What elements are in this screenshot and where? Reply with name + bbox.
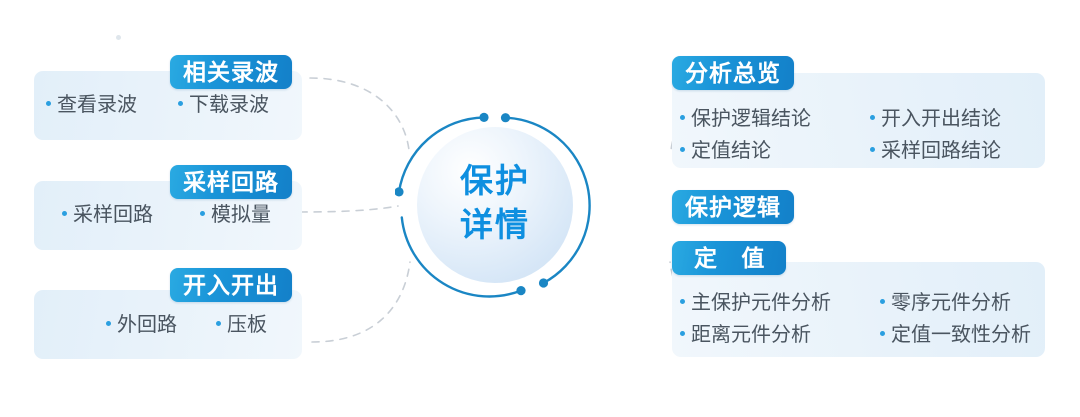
bullet-icon <box>680 115 685 120</box>
bullet-icon <box>46 101 51 106</box>
list-item[interactable]: 定值结论 <box>680 136 870 166</box>
list-item[interactable]: 采样回路 <box>62 200 200 230</box>
list-item-label: 主保护元件分析 <box>691 288 831 318</box>
list-item-label: 定值一致性分析 <box>891 320 1031 350</box>
list-item[interactable]: 压板 <box>216 310 296 340</box>
bullet-icon <box>178 101 183 106</box>
list-item[interactable]: 保护逻辑结论 <box>680 104 870 134</box>
badge-caiyanghuilu[interactable]: 采样回路 <box>170 165 292 199</box>
badge-fenxizonglan[interactable]: 分析总览 <box>672 56 794 90</box>
center-hub[interactable]: 保护 详情 <box>395 105 595 305</box>
bullet-icon <box>62 211 67 216</box>
list-item[interactable]: 查看录波 <box>46 90 178 120</box>
list-item[interactable]: 零序元件分析 <box>880 288 1040 318</box>
list-item[interactable]: 定值一致性分析 <box>880 320 1040 350</box>
list-item-label: 保护逻辑结论 <box>691 104 811 134</box>
list-item-label: 定值结论 <box>691 136 771 166</box>
bullet-icon <box>870 115 875 120</box>
badge-baohuluoji[interactable]: 保护逻辑 <box>672 190 794 224</box>
list-item-label: 压板 <box>227 310 267 340</box>
bullet-icon <box>880 331 885 336</box>
bullet-icon <box>680 299 685 304</box>
bullet-icon <box>880 299 885 304</box>
bullet-icon <box>200 211 205 216</box>
list-item[interactable]: 距离元件分析 <box>680 320 880 350</box>
list-item[interactable]: 采样回路结论 <box>870 136 1040 166</box>
list-item-label: 开入开出结论 <box>881 104 1001 134</box>
list-item-label: 查看录波 <box>57 90 137 120</box>
list-item[interactable]: 开入开出结论 <box>870 104 1040 134</box>
list-item-label: 模拟量 <box>211 200 271 230</box>
badge-dingzhi[interactable]: 定 值 <box>672 241 786 275</box>
list-item[interactable]: 模拟量 <box>200 200 296 230</box>
mindmap-diagram: 保护 详情 相关录波 查看录波 下载录波 采样回路 采样回路 <box>0 0 1080 417</box>
list-item-label: 采样回路结论 <box>881 136 1001 166</box>
list-item[interactable]: 主保护元件分析 <box>680 288 880 318</box>
bullet-icon <box>106 321 111 326</box>
list-item-label: 外回路 <box>117 310 177 340</box>
list-item-label: 采样回路 <box>73 200 153 230</box>
list-item[interactable]: 下载录波 <box>178 90 296 120</box>
list-item[interactable]: 外回路 <box>106 310 216 340</box>
bullet-icon <box>680 147 685 152</box>
decorative-dot <box>116 35 121 40</box>
connector-left-2 <box>300 206 398 212</box>
bullet-icon <box>680 331 685 336</box>
list-item-label: 下载录波 <box>189 90 269 120</box>
bullet-icon <box>870 147 875 152</box>
badge-kairukaichu[interactable]: 开入开出 <box>170 268 292 302</box>
hub-title: 保护 详情 <box>395 159 595 247</box>
list-item-label: 距离元件分析 <box>691 320 811 350</box>
bullet-icon <box>216 321 221 326</box>
badge-xiangguanlubo[interactable]: 相关录波 <box>170 55 292 89</box>
list-item-label: 零序元件分析 <box>891 288 1011 318</box>
